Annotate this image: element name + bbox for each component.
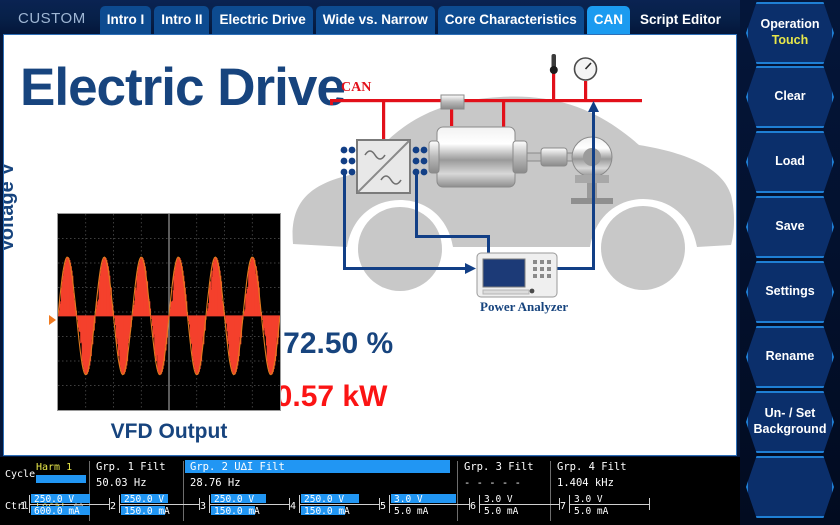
trigger-marker-icon — [49, 315, 56, 325]
group-header[interactable]: Grp. 4 Filt — [557, 461, 627, 473]
sidebar-button-rename[interactable]: Rename — [746, 326, 834, 388]
tab-core-characteristics[interactable]: Core Characteristics — [438, 6, 584, 34]
cycle-label: Cycle — [5, 469, 35, 480]
channel-voltage-value: 3.0 V — [484, 494, 513, 505]
scope-caption: VFD Output — [57, 420, 281, 444]
group-frequency: - - - - - — [464, 477, 521, 489]
sidebar-button-label: Operation — [760, 17, 819, 33]
channel-number: 3 — [200, 501, 206, 512]
channel-voltage-value: 250.0 V — [214, 494, 254, 505]
channel-current-value: 600.0 mA — [34, 506, 80, 517]
status-bar: Cycle Harm 1 Ctrl Local Grp. 1 Filt50.03… — [0, 457, 740, 525]
channel-number: 5 — [380, 501, 386, 512]
tab-script-editor[interactable]: Script Editor — [633, 6, 728, 34]
channel-current-value: 5.0 mA — [484, 506, 518, 517]
tab-can[interactable]: CAN — [587, 6, 630, 34]
channel-voltage-value: 250.0 V — [304, 494, 344, 505]
power-analyzer-device — [477, 253, 557, 297]
tab-label: Wide vs. Narrow — [323, 13, 428, 27]
sidebar-button-label: Settings — [765, 284, 814, 300]
status-divider — [457, 461, 458, 521]
sidebar-button-settings[interactable]: Settings — [746, 261, 834, 323]
sidebar-button-label: Clear — [774, 89, 805, 105]
channel-current-value: 150.0 mA — [304, 506, 350, 517]
channel-voltage-value: 250.0 V — [34, 494, 74, 505]
status-divider — [183, 461, 184, 521]
channel-bracket — [649, 498, 650, 510]
group-frequency: 1.404 kHz — [557, 477, 614, 489]
sidebar-button-label: Save — [775, 219, 804, 235]
electric-drive-diagram: CAN Power Analyzer — [287, 49, 737, 329]
torque-sensor — [541, 148, 567, 166]
channel-voltage-value: 3.0 V — [394, 494, 423, 505]
channel-number: 1 — [20, 501, 26, 512]
group-frequency: 50.03 Hz — [96, 477, 147, 489]
channel-current-value: 150.0 mA — [124, 506, 170, 517]
sidebar-button-empty[interactable] — [746, 456, 834, 518]
can-bus-line — [330, 99, 642, 102]
status-divider — [550, 461, 551, 521]
sidebar-button-save[interactable]: Save — [746, 196, 834, 258]
tab-label: CAN — [594, 13, 623, 27]
tab-label: Electric Drive — [219, 13, 305, 27]
channel-current-value: 5.0 mA — [574, 506, 608, 517]
power-analyzer-label: Power Analyzer — [480, 299, 568, 314]
group-header[interactable]: Grp. 3 Filt — [464, 461, 534, 473]
waveform-display[interactable] — [57, 213, 281, 411]
sidebar-button-label: Un- / Set — [765, 406, 816, 422]
tab-label: Core Characteristics — [445, 13, 577, 27]
sidebar-button-label: Load — [775, 154, 805, 170]
sidebar-button-un-set[interactable]: Un- / SetBackground — [746, 391, 834, 453]
channel-number: 7 — [560, 501, 566, 512]
group-header[interactable]: Grp. 2 U∆I Filt — [190, 461, 285, 473]
sidebar-button-load[interactable]: Load — [746, 131, 834, 193]
tab-wide-vs-narrow[interactable]: Wide vs. Narrow — [316, 6, 435, 34]
group-header[interactable]: Grp. 1 Filt — [96, 461, 166, 473]
car-silhouette-svg: CAN Power Analyzer — [287, 49, 737, 329]
channel-number: 4 — [290, 501, 296, 512]
tab-label: Intro II — [161, 13, 202, 27]
channel-current-value: 150.0 mA — [214, 506, 260, 517]
cycle-bar — [36, 475, 86, 483]
tab-electric-drive[interactable]: Electric Drive — [212, 6, 312, 34]
sidebar-button-label: Rename — [766, 349, 815, 365]
sidebar-button-line2: Background — [754, 422, 827, 438]
waveform-svg — [58, 214, 280, 410]
tab-label: Script Editor — [640, 13, 721, 27]
can-label: CAN — [341, 80, 371, 95]
sidebar: OperationTouchClearLoadSaveSettingsRenam… — [740, 0, 840, 525]
custom-label: CUSTOM — [4, 10, 100, 34]
cycle-value: Harm 1 — [36, 462, 72, 473]
channel-current-value: 5.0 mA — [394, 506, 428, 517]
instrument-screen: CUSTOM Intro IIntro IIElectric DriveWide… — [0, 0, 840, 525]
sidebar-button-clear[interactable]: Clear — [746, 66, 834, 128]
channel-voltage-value: 3.0 V — [574, 494, 603, 505]
motor-block — [437, 127, 515, 187]
tab-intro-ii[interactable]: Intro II — [154, 6, 209, 34]
main-canvas[interactable]: Electric Drive — [3, 34, 737, 456]
tab-intro-i[interactable]: Intro I — [100, 6, 152, 34]
scope-y-axis-label: Voltage V — [3, 162, 19, 252]
tab-label: Intro I — [107, 13, 145, 27]
sidebar-button-operation[interactable]: OperationTouch — [746, 2, 834, 64]
channel-voltage-value: 250.0 V — [124, 494, 164, 505]
group-frequency: 28.76 Hz — [190, 477, 241, 489]
channel-number: 6 — [470, 501, 476, 512]
sidebar-button-sublabel: Touch — [772, 33, 809, 49]
tab-bar: CUSTOM Intro IIntro IIElectric DriveWide… — [0, 0, 740, 34]
channel-number: 2 — [110, 501, 116, 512]
